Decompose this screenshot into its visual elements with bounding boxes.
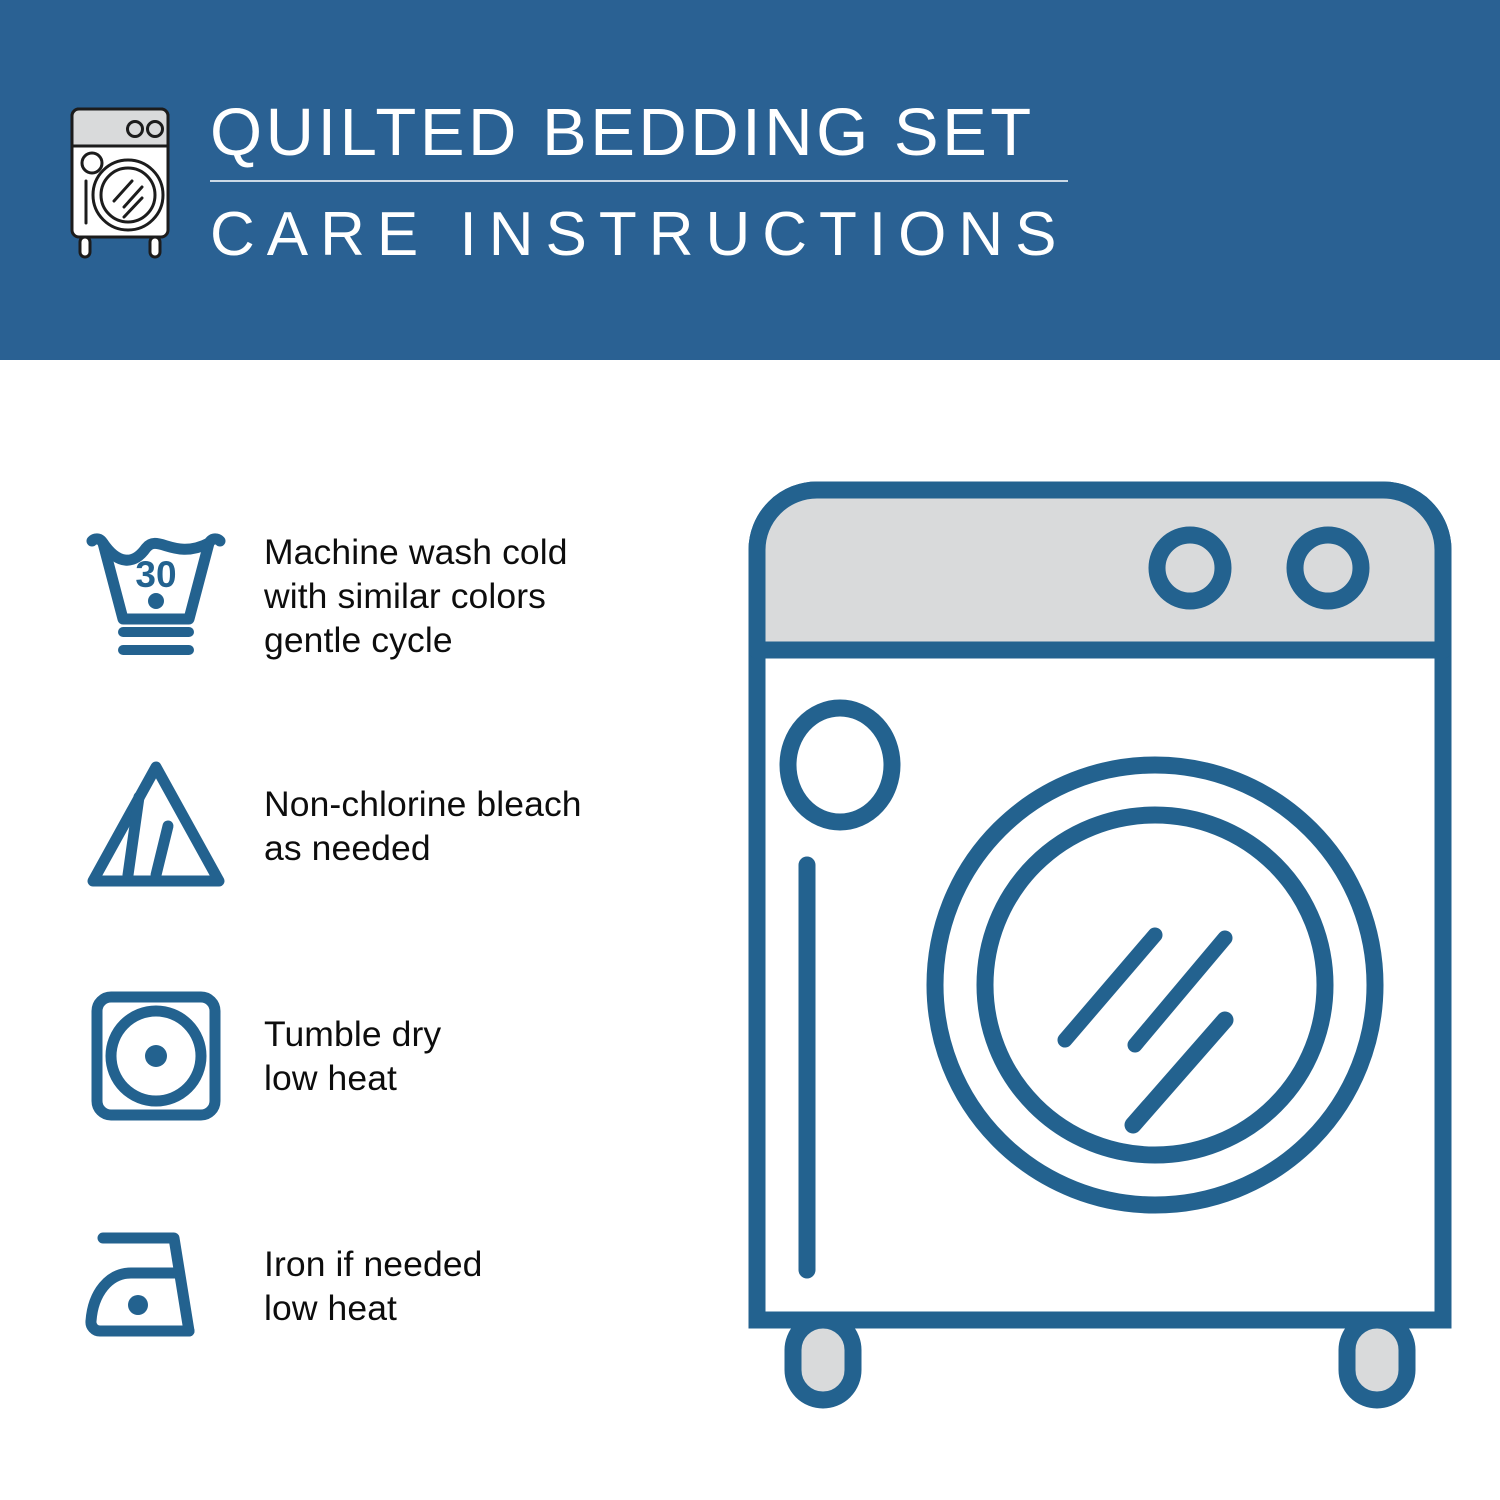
machine-leg-left [793, 1320, 853, 1400]
care-line: low heat [264, 1056, 441, 1100]
non-chlorine-bleach-triangle-icon [72, 751, 240, 901]
iron-low-heat-icon [72, 1211, 240, 1361]
care-item-bleach: Non-chlorine bleach as needed [72, 740, 712, 912]
washing-machine-icon [62, 103, 180, 263]
care-item-iron-text: Iron if needed low heat [264, 1242, 483, 1330]
machine-knob-1 [1157, 535, 1223, 601]
washing-machine-illustration [735, 480, 1465, 1430]
care-line: Non-chlorine bleach [264, 782, 582, 826]
care-line: as needed [264, 826, 582, 870]
care-item-bleach-text: Non-chlorine bleach as needed [264, 782, 582, 870]
care-instruction-list: 30 Machine wash cold with similar colors… [72, 510, 712, 1372]
header-title-group: QUILTED BEDDING SET CARE INSTRUCTIONS [210, 99, 1068, 266]
care-line: Iron if needed [264, 1242, 483, 1286]
wash-tub-30-gentle-icon: 30 [72, 521, 240, 671]
page-title: QUILTED BEDDING SET [210, 99, 1068, 180]
care-item-machine-wash: 30 Machine wash cold with similar colors… [72, 510, 712, 682]
title-divider [210, 180, 1068, 182]
care-line: Machine wash cold [264, 530, 568, 574]
care-line: with similar colors [264, 574, 568, 618]
page-subtitle: CARE INSTRUCTIONS [210, 182, 1068, 266]
page-header: QUILTED BEDDING SET CARE INSTRUCTIONS [0, 0, 1500, 360]
care-item-tumble-dry-text: Tumble dry low heat [264, 1012, 441, 1100]
machine-indicator-circle [788, 708, 892, 822]
wash-temperature-label: 30 [135, 554, 176, 595]
care-item-machine-wash-text: Machine wash cold with similar colors ge… [264, 530, 568, 662]
machine-knob-2 [1295, 535, 1361, 601]
page-content: 30 Machine wash cold with similar colors… [0, 360, 1500, 1500]
care-line: low heat [264, 1286, 483, 1330]
care-line: gentle cycle [264, 618, 568, 662]
care-item-iron: Iron if needed low heat [72, 1200, 712, 1372]
care-line: Tumble dry [264, 1012, 441, 1056]
care-item-tumble-dry: Tumble dry low heat [72, 970, 712, 1142]
tumble-dry-low-icon [72, 981, 240, 1131]
machine-leg-right [1347, 1320, 1407, 1400]
